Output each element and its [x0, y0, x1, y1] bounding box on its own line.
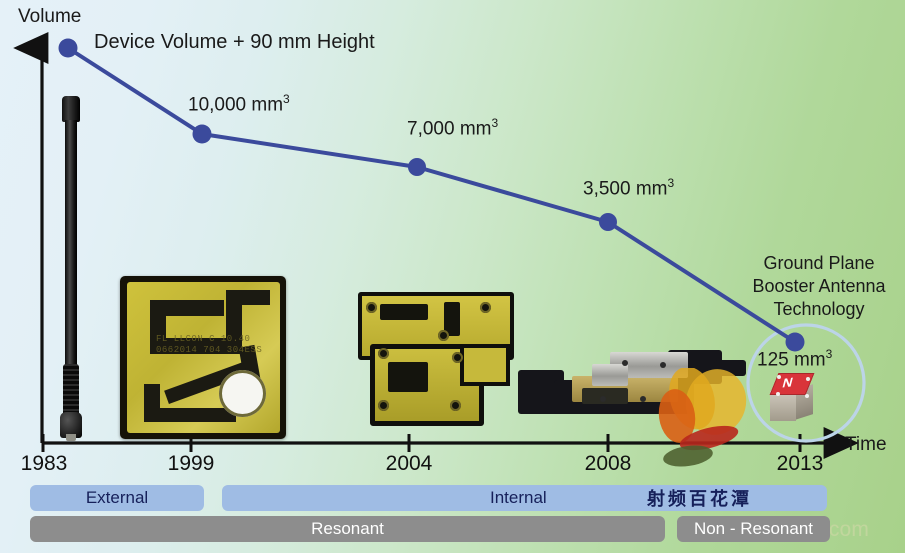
value-label-1999: 10,000 mm3	[188, 92, 290, 116]
module-side-wing	[460, 344, 510, 386]
antenna-cap	[62, 96, 80, 122]
antenna-coil	[63, 364, 79, 416]
x-tick-label-2013: 2013	[777, 452, 824, 476]
value-label-2008-exponent: 3	[667, 176, 674, 190]
module-slot	[388, 362, 428, 392]
value-label-2004-text: 7,000 mm	[407, 118, 491, 139]
assembly-screw	[660, 362, 666, 368]
value-label-2013-text: 125 mm	[757, 349, 826, 370]
chip-front-face	[770, 391, 796, 421]
chip-corner-screw	[805, 394, 809, 398]
data-point-1999	[193, 125, 212, 144]
legend-bar-internal-label: Internal	[490, 488, 547, 508]
technology-annotation-line1: Ground Plane	[735, 252, 903, 275]
x-tick-label-1983: 1983	[21, 452, 68, 476]
technology-annotation-line2: Booster Antenna	[735, 275, 903, 298]
value-label-2008: 3,500 mm3	[583, 176, 674, 200]
pcb-trace	[144, 408, 236, 422]
legend-bar-external-label: External	[86, 488, 148, 508]
ground-plane-booster-chip-photo: N	[770, 373, 818, 423]
module-pad	[480, 302, 491, 313]
value-label-2004-exponent: 3	[491, 116, 498, 130]
value-label-1999-text: 10,000 mm	[188, 94, 283, 115]
value-label-2004: 7,000 mm3	[407, 116, 498, 140]
x-tick-label-2008: 2008	[585, 452, 632, 476]
module-pad	[378, 400, 389, 411]
external-whip-antenna-photo	[58, 96, 84, 441]
assembly-steel-clip	[592, 364, 628, 386]
module-pad	[438, 330, 449, 341]
assembly-screw	[600, 396, 606, 402]
assembly-screw	[622, 360, 628, 366]
pcb-marking-text: FL LLCON C 10.40 0662014 704 304ESS	[156, 334, 286, 356]
legend-bar-chinese-label: 射频百花潭	[647, 485, 752, 511]
internal-antenna-assembly-photo	[518, 340, 746, 432]
chip-corner-screw	[806, 377, 810, 381]
legend-bar-resonant-label: Resonant	[311, 519, 384, 539]
infographic-canvas: Volume Time Device Volume + 90 mm Height…	[0, 0, 905, 553]
pcb-trace	[226, 290, 270, 305]
x-tick-label-1999: 1999	[168, 452, 215, 476]
internal-antenna-module-photo	[352, 288, 512, 436]
legend-bar-external[interactable]: External	[30, 485, 204, 511]
data-point-2008	[599, 213, 617, 231]
module-pad	[378, 348, 389, 359]
legend-bar-non-resonant-label: Non - Resonant	[694, 519, 813, 539]
value-label-2013: 125 mm3	[757, 347, 832, 371]
assembly-tab	[714, 360, 746, 376]
legend-bar-resonant[interactable]: Resonant	[30, 516, 665, 542]
legend-bar-internal[interactable]: Internal 射频百花潭	[222, 485, 827, 511]
chip-corner-screw	[776, 392, 780, 396]
value-label-1999-exponent: 3	[283, 92, 290, 106]
pcb-speaker-hole	[219, 370, 266, 417]
assembly-screw	[640, 396, 646, 402]
series-title: Device Volume + 90 mm Height	[94, 31, 375, 54]
module-pad	[450, 400, 461, 411]
module-slot	[380, 304, 428, 320]
antenna-shaft	[65, 120, 77, 370]
technology-annotation: Ground Plane Booster Antenna Technology	[735, 252, 903, 321]
x-tick-label-2004: 2004	[386, 452, 433, 476]
x-axis-title: Time	[845, 434, 887, 456]
gold-pcb-antenna-photo: FL LLCON C 10.40 0662014 704 304ESS	[120, 276, 286, 439]
value-label-2013-exponent: 3	[826, 347, 833, 361]
legend-bar-non-resonant[interactable]: Non - Resonant	[677, 516, 830, 542]
antenna-connector	[66, 434, 76, 441]
chip-corner-screw	[777, 375, 781, 379]
technology-annotation-line3: Technology	[735, 298, 903, 321]
y-axis-title: Volume	[18, 6, 81, 28]
module-pad	[366, 302, 377, 313]
module-pad	[452, 352, 463, 363]
value-label-2008-text: 3,500 mm	[583, 178, 667, 199]
data-point-2004	[408, 158, 426, 176]
data-point-1983	[59, 39, 78, 58]
